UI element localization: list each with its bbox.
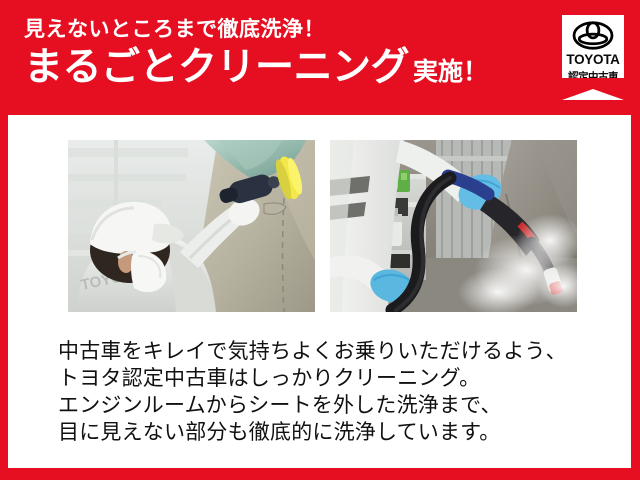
body-line-1: 中古車をキレイで気持ちよくお乗りいただけるよう、 (58, 338, 598, 365)
frame-border-right (631, 0, 640, 480)
body-line-2: トヨタ認定中古車はしっかりクリーニング。 (58, 365, 598, 392)
logo-brand-word: TOYOTA (562, 52, 624, 67)
body-line-3: エンジンルームからシートを外した洗浄まで、 (58, 392, 598, 419)
headline-main: まるごとクリーニング (24, 48, 409, 89)
toyota-certified-logo: TOYOTA 認定中古車 (562, 15, 624, 100)
frame-border-left (0, 0, 8, 480)
frame-border-bottom (0, 468, 640, 480)
photo-polishing-car-body: TOYOTA (68, 140, 315, 312)
header-band: 見えないところまで徹底洗浄！ まるごとクリーニング 実施！ TOYOTA 認定中… (0, 0, 640, 115)
photo-steam-cleaning-seat (330, 140, 577, 312)
header-kicker: 見えないところまで徹底洗浄！ (24, 18, 544, 41)
headline-row: まるごとクリーニング 実施！ (24, 48, 544, 89)
toyota-ellipse-emblem (572, 21, 614, 50)
body-line-4: 目に見えない部分も徹底的に洗浄しています。 (58, 419, 598, 446)
headline-suffix: 実施！ (413, 59, 488, 85)
body-copy: 中古車をキレイで気持ちよくお乗りいただけるよう、 トヨタ認定中古車はしっかりクリ… (58, 338, 598, 446)
logo-red-ribbon (562, 78, 624, 100)
cleaning-promo-banner: 見えないところまで徹底洗浄！ まるごとクリーニング 実施！ TOYOTA 認定中… (0, 0, 640, 480)
header-text-group: 見えないところまで徹底洗浄！ まるごとクリーニング 実施！ (24, 18, 544, 89)
